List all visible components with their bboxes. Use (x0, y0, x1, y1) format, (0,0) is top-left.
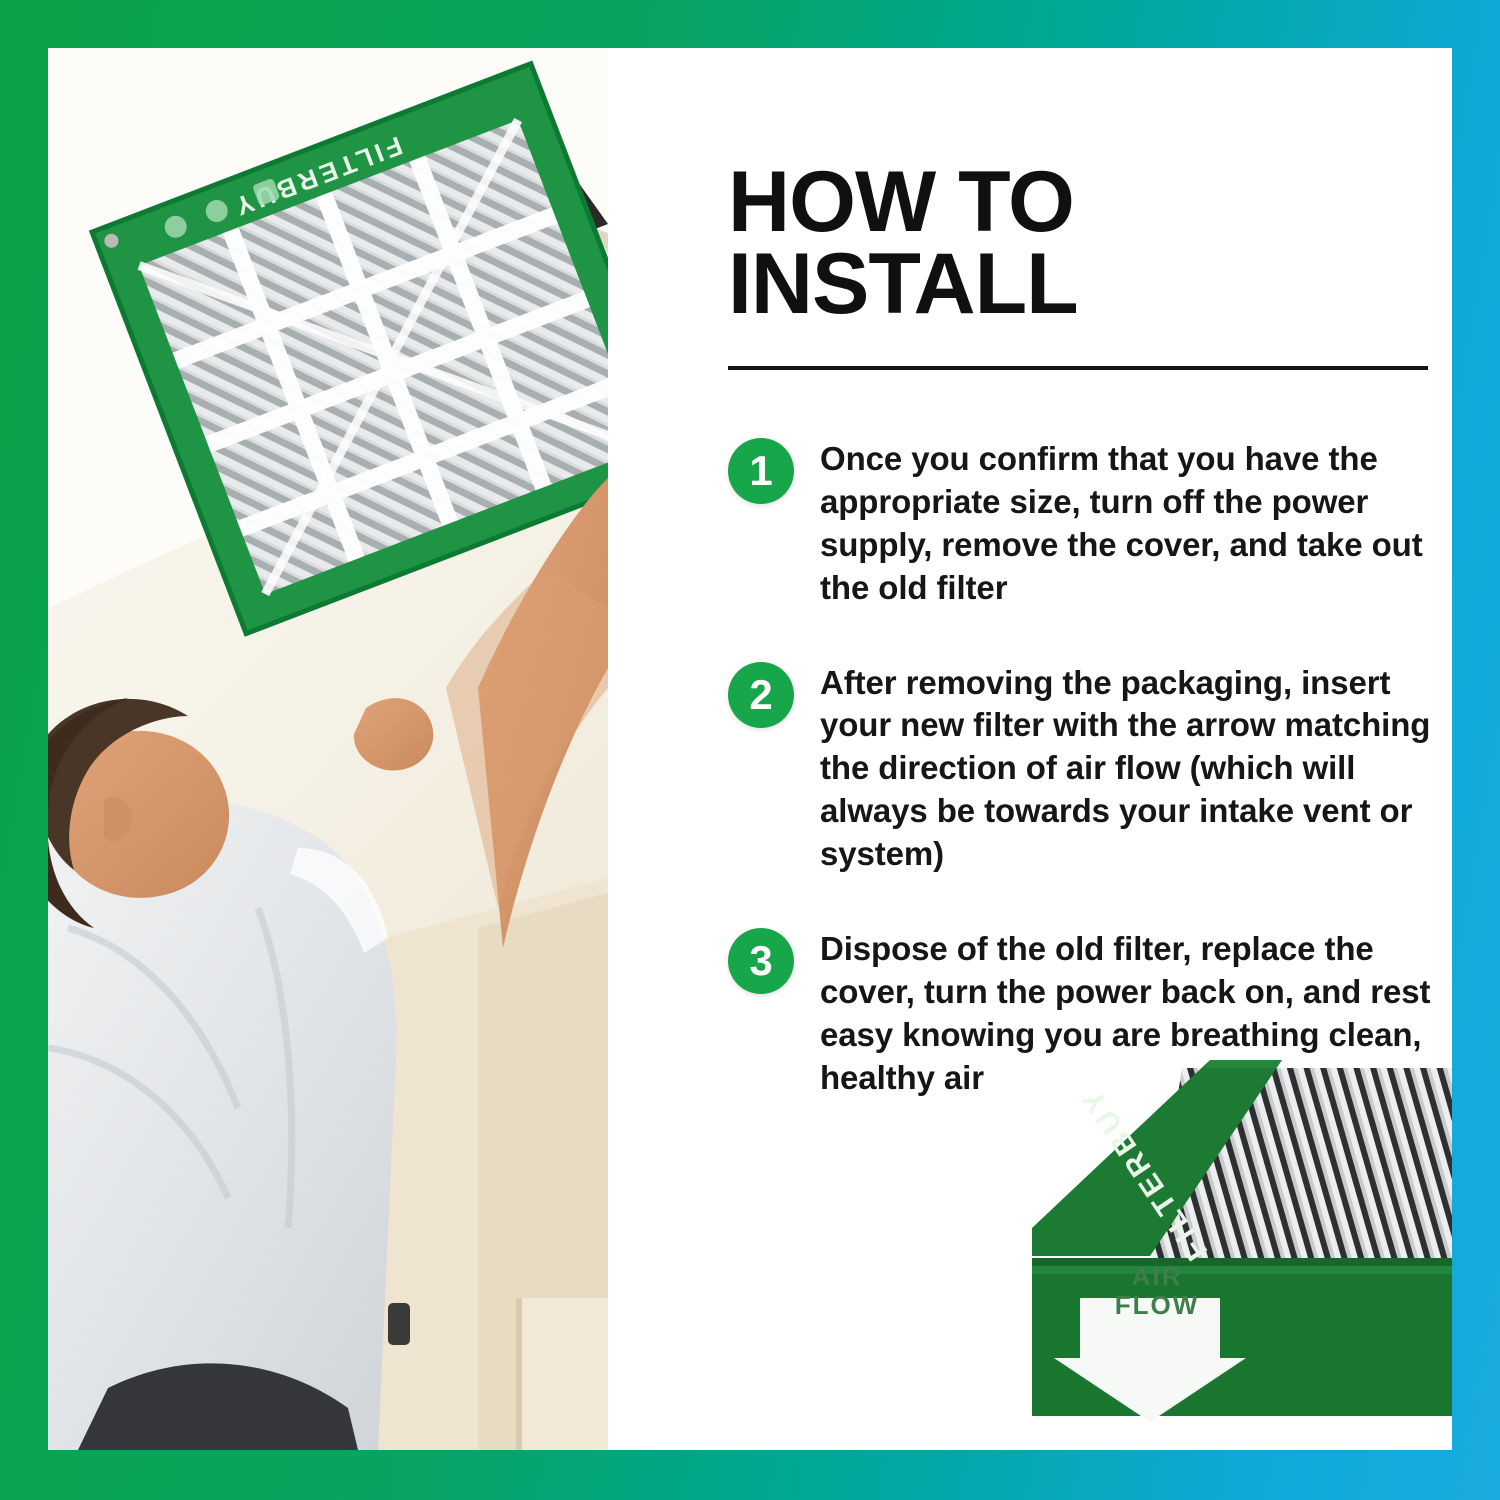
inner-white-card: FILTERBUY (48, 48, 1452, 1450)
list-item: 2 After removing the packaging, insert y… (716, 656, 1452, 876)
page-title-line-2: INSTALL (728, 243, 1428, 326)
step-number-badge: 1 (728, 438, 794, 504)
step-text: After removing the packaging, insert you… (820, 656, 1452, 876)
installation-photo: FILTERBUY (48, 48, 608, 1450)
photo-illustration: FILTERBUY (48, 48, 608, 1450)
title-divider (728, 366, 1428, 370)
step-text: Once you confirm that you have the appro… (820, 432, 1452, 610)
poster-canvas: FILTERBUY (0, 0, 1500, 1500)
step-number-badge: 3 (728, 928, 794, 994)
page-title-line-1: HOW TO (728, 154, 1074, 250)
list-item: 3 Dispose of the old filter, replace the… (716, 922, 1452, 1100)
step-number-badge: 2 (728, 662, 794, 728)
list-item: 1 Once you confirm that you have the app… (716, 432, 1452, 610)
steps-list: 1 Once you confirm that you have the app… (716, 432, 1452, 1146)
content-column: HOW TO INSTALL 1 Once you confirm that y… (680, 48, 1452, 1450)
step-text: Dispose of the old filter, replace the c… (820, 922, 1452, 1100)
page-title: HOW TO INSTALL (728, 161, 1428, 326)
